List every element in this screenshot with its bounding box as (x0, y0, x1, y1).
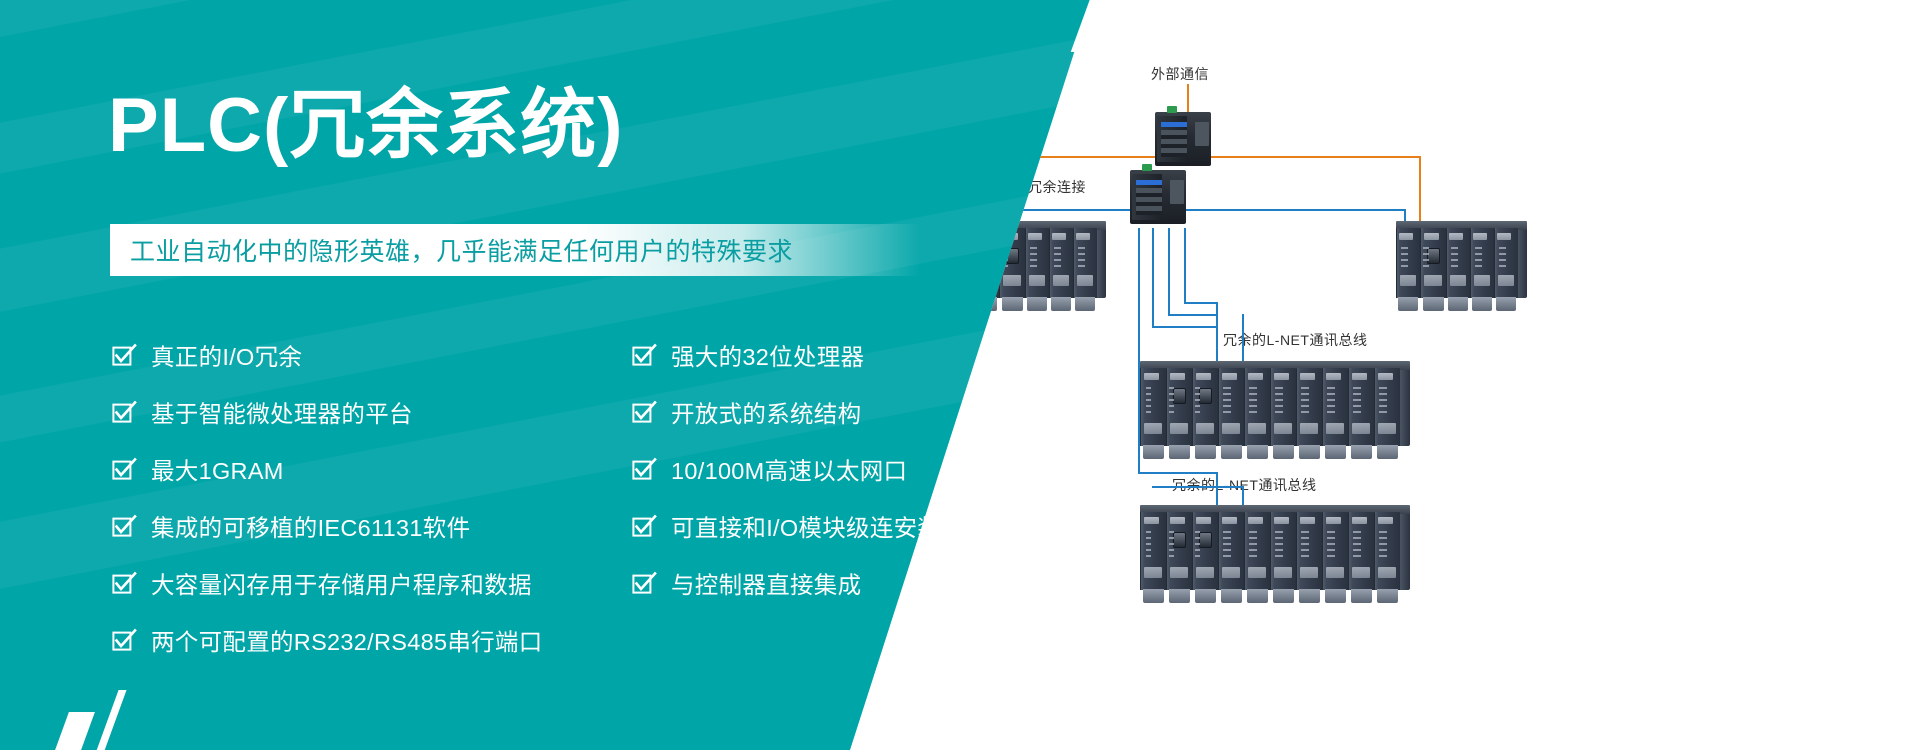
switch-port-grid (1136, 188, 1162, 215)
wire-lnet-mid-drop-2 (1242, 314, 1244, 368)
plc-io-module (1244, 368, 1270, 446)
list-item-label: 与控制器直接集成 (671, 566, 861, 600)
list-item: 集成的可移植的IEC61131软件 (112, 497, 632, 554)
feature-column-left: 真正的I/O冗余 基于智能微处理器的平台 (112, 326, 632, 668)
list-item-label: 10/100M高速以太网口 (671, 452, 907, 486)
switch-green-terminal (1167, 106, 1177, 113)
switch-status-led-bar (1161, 122, 1187, 127)
list-item-label: 基于智能微处理器的平台 (151, 395, 413, 429)
list-item-label: 两个可配置的RS232/RS485串行端口 (151, 623, 543, 657)
network-switch-mid (1130, 170, 1186, 224)
label-external-comm: 外部通信 (1151, 64, 1209, 84)
wire-lnet-b (1152, 228, 1154, 328)
plc-io-module (1348, 368, 1374, 446)
list-item-label: 可直接和I/O模块级连安装 (671, 509, 941, 543)
check-box-icon (112, 628, 137, 653)
check-box-icon (632, 457, 657, 482)
wire-lnet-c (1168, 228, 1170, 316)
wire-lnet-turn-d (1184, 302, 1218, 304)
check-box-icon (632, 514, 657, 539)
plc-io-module (1270, 368, 1296, 446)
list-item: 真正的I/O冗余 (112, 326, 632, 383)
list-item: 两个可配置的RS232/RS485串行端口 (112, 611, 632, 668)
list-item-label: 最大1GRAM (151, 452, 284, 486)
switch-port-grid (1161, 130, 1187, 157)
banner-root: PLC(冗余系统) 工业自动化中的隐形英雄，几乎能满足任何用户的特殊要求 真正的… (0, 0, 1920, 750)
switch-side-panel (1170, 180, 1184, 204)
plc-io-module (1244, 512, 1270, 590)
switch-side-panel (1195, 122, 1209, 146)
check-box-icon (112, 343, 137, 368)
wire-lnet-a (1138, 228, 1140, 373)
plc-module (1396, 228, 1420, 298)
plc-power-module (1140, 512, 1166, 590)
list-item-label: 集成的可移植的IEC61131软件 (151, 509, 470, 543)
plc-module (1446, 228, 1470, 298)
rack-end-cap (1097, 228, 1106, 298)
check-box-icon (632, 343, 657, 368)
plc-cpu-module (1192, 512, 1218, 590)
plc-io-module (1296, 512, 1322, 590)
wire-lnet-turn-b (1152, 326, 1218, 328)
plc-module (1073, 228, 1097, 298)
list-item-label: 强大的32位处理器 (671, 338, 864, 372)
subtitle-bar: 工业自动化中的隐形英雄，几乎能满足任何用户的特殊要求 (110, 224, 920, 276)
network-switch-top (1155, 112, 1211, 166)
plc-cpu-module (1420, 228, 1446, 298)
wire-lnet-d (1184, 228, 1186, 304)
wire-redundant-bus (985, 209, 1406, 211)
subtitle-text: 工业自动化中的隐形英雄，几乎能满足任何用户的特殊要求 (110, 232, 793, 268)
rack-end-cap (1400, 368, 1410, 446)
plc-io-module (1322, 368, 1348, 446)
plc-power-module (1140, 368, 1166, 446)
plc-module (1470, 228, 1494, 298)
plc-io-module (1374, 512, 1400, 590)
plc-io-module (1348, 512, 1374, 590)
plc-cpu-module (1166, 368, 1192, 446)
plc-rack-right (1396, 228, 1527, 298)
switch-front-face (1132, 174, 1162, 220)
plc-cpu-module (1166, 512, 1192, 590)
list-item-label: 真正的I/O冗余 (151, 338, 302, 372)
list-item-label: 大容量闪存用于存储用户程序和数据 (151, 566, 532, 600)
wire-lnet-lower-turn (1138, 472, 1218, 474)
list-item: 大容量闪存用于存储用户程序和数据 (112, 554, 632, 611)
check-box-icon (112, 400, 137, 425)
plc-io-rack-middle (1140, 368, 1410, 446)
rack-end-cap (1518, 228, 1527, 298)
plc-io-module (1322, 512, 1348, 590)
plc-cpu-module (1192, 368, 1218, 446)
plc-io-module (1218, 368, 1244, 446)
check-box-icon (632, 400, 657, 425)
rack-end-cap (1400, 512, 1410, 590)
wire-lnet-lower-turn-2 (1152, 486, 1244, 488)
wire-lnet-mid-drop-1 (1216, 302, 1218, 368)
plc-module (1494, 228, 1518, 298)
list-item: 基于智能微处理器的平台 (112, 383, 632, 440)
list-item: 最大1GRAM (112, 440, 632, 497)
plc-io-module (1296, 368, 1322, 446)
label-redundant-link: 冗余连接 (1028, 177, 1086, 197)
label-lnet-bus-lower: 冗余的L-NET通讯总线 (1172, 475, 1316, 495)
wire-lnet-turn-c (1168, 314, 1218, 316)
check-box-icon (112, 514, 137, 539)
check-box-icon (112, 571, 137, 596)
check-box-icon (112, 457, 137, 482)
list-item-label: 开放式的系统结构 (671, 395, 861, 429)
check-box-icon (632, 571, 657, 596)
plc-io-rack-bottom (1140, 512, 1410, 590)
switch-status-led-bar (1136, 180, 1162, 185)
switch-green-terminal (1142, 164, 1152, 171)
plc-module (1025, 228, 1049, 298)
plc-io-module (1374, 368, 1400, 446)
page-title: PLC(冗余系统) (108, 88, 624, 164)
plc-io-module (1270, 512, 1296, 590)
plc-module (1049, 228, 1073, 298)
switch-front-face (1157, 116, 1187, 162)
label-lnet-bus-upper: 冗余的L-NET通讯总线 (1223, 330, 1367, 350)
plc-io-module (1218, 512, 1244, 590)
